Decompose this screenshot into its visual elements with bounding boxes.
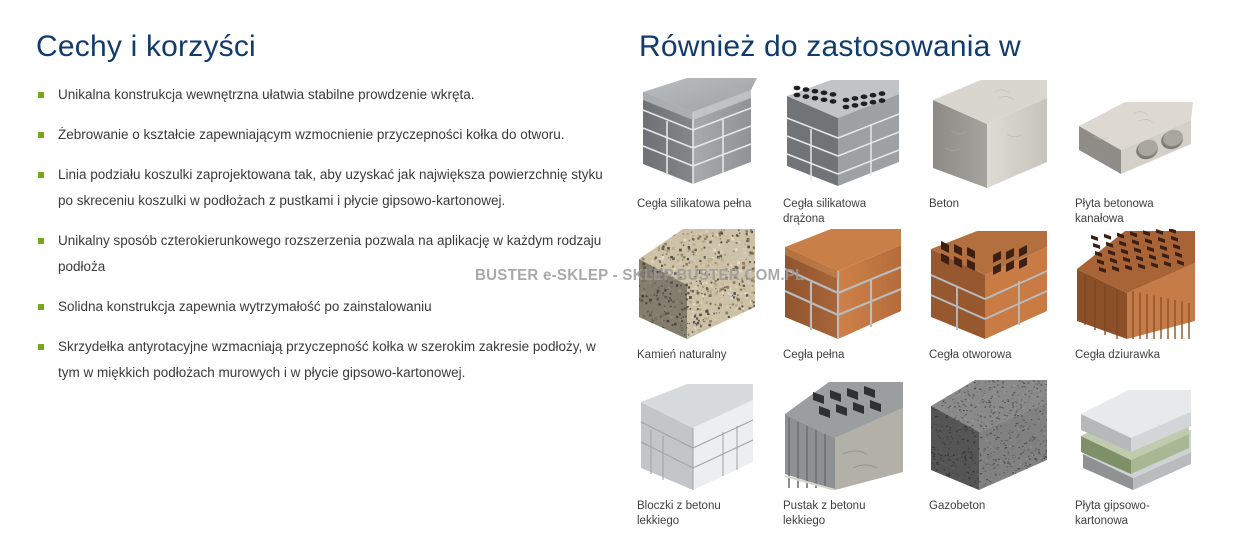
material-card[interactable]: Cegła otworowa	[929, 229, 1049, 380]
material-card[interactable]: Cegła silikatowa drążona	[783, 78, 903, 229]
page-title-features: Cechy i korzyści	[36, 30, 256, 63]
feature-list-item: Skrzydełka antyrotacyjne wzmacniają przy…	[36, 334, 616, 386]
perforated-clay-brick-image[interactable]	[929, 229, 1049, 339]
feature-list-item: Unikalny sposób czterokierunkowego rozsz…	[36, 228, 616, 280]
material-caption: Cegła dziurawka	[1075, 348, 1195, 380]
materials-grid: Cegła silikatowa pełna Cegła silikatowa …	[637, 78, 1237, 531]
silicate-hollow-brick-image[interactable]	[783, 78, 903, 188]
material-caption: Cegła silikatowa pełna	[637, 197, 757, 229]
bullet-square-icon	[38, 172, 44, 178]
feature-text: Unikalna konstrukcja wewnętrzna ułatwia …	[58, 87, 474, 102]
hollow-core-concrete-slab-image[interactable]	[1075, 78, 1195, 188]
material-caption: Beton	[929, 197, 1049, 229]
features-list: Unikalna konstrukcja wewnętrzna ułatwia …	[36, 82, 616, 400]
material-caption: Cegła otworowa	[929, 348, 1049, 380]
material-caption: Cegła silikatowa drążona	[783, 197, 903, 229]
material-caption: Gazobeton	[929, 499, 1049, 531]
lightweight-concrete-hollow-block-image[interactable]	[783, 380, 903, 490]
solid-clay-brick-image[interactable]	[783, 229, 903, 339]
page-title-applications: Również do zastosowania w	[639, 30, 1021, 63]
feature-list-item: Unikalna konstrukcja wewnętrzna ułatwia …	[36, 82, 616, 108]
aerated-concrete-image[interactable]	[929, 380, 1049, 490]
feature-list-item: Solidna konstrukcja zapewnia wytrzymałoś…	[36, 294, 616, 320]
bullet-square-icon	[38, 344, 44, 350]
feature-text: Solidna konstrukcja zapewnia wytrzymałoś…	[58, 299, 432, 314]
gypsum-plasterboard-image[interactable]	[1075, 380, 1195, 490]
bullet-square-icon	[38, 238, 44, 244]
bullet-square-icon	[38, 132, 44, 138]
material-card[interactable]: Cegła silikatowa pełna	[637, 78, 757, 229]
material-card[interactable]: Beton	[929, 78, 1049, 229]
ribbed-hollow-clay-brick-image[interactable]	[1075, 229, 1195, 339]
material-card[interactable]: Kamień naturalny	[637, 229, 757, 380]
feature-text: Linia podziału koszulki zaprojektowana t…	[58, 167, 603, 208]
material-card[interactable]: Cegła dziurawka	[1075, 229, 1195, 380]
feature-text: Żebrowanie o kształcie zapewniającym wzm…	[58, 127, 564, 142]
feature-list-item: Żebrowanie o kształcie zapewniającym wzm…	[36, 122, 616, 148]
material-caption: Płyta gipsowo-kartonowa	[1075, 499, 1195, 531]
feature-text: Unikalny sposób czterokierunkowego rozsz…	[58, 233, 601, 274]
material-caption: Kamień naturalny	[637, 348, 757, 380]
applications-column: Również do zastosowania w Cegła silikato…	[620, 0, 1254, 552]
silicate-solid-brick-image[interactable]	[637, 78, 757, 188]
natural-stone-image[interactable]	[637, 229, 757, 339]
material-card[interactable]: Płyta gipsowo-kartonowa	[1075, 380, 1195, 531]
concrete-block-image[interactable]	[929, 78, 1049, 188]
material-caption: Bloczki z betonu lekkiego	[637, 499, 757, 531]
material-card[interactable]: Pustak z betonu lekkiego	[783, 380, 903, 531]
material-card[interactable]: Bloczki z betonu lekkiego	[637, 380, 757, 531]
feature-text: Skrzydełka antyrotacyjne wzmacniają przy…	[58, 339, 596, 380]
features-column: Cechy i korzyści Unikalna konstrukcja we…	[0, 0, 620, 552]
product-features-page: Cechy i korzyści Unikalna konstrukcja we…	[0, 0, 1254, 552]
material-card[interactable]: Gazobeton	[929, 380, 1049, 531]
feature-list-item: Linia podziału koszulki zaprojektowana t…	[36, 162, 616, 214]
bullet-square-icon	[38, 92, 44, 98]
bullet-square-icon	[38, 304, 44, 310]
material-caption: Pustak z betonu lekkiego	[783, 499, 903, 531]
material-caption: Cegła pełna	[783, 348, 903, 380]
lightweight-concrete-block-image[interactable]	[637, 380, 757, 490]
material-card[interactable]: Cegła pełna	[783, 229, 903, 380]
material-card[interactable]: Płyta betonowa kanałowa	[1075, 78, 1195, 229]
material-caption: Płyta betonowa kanałowa	[1075, 197, 1195, 229]
